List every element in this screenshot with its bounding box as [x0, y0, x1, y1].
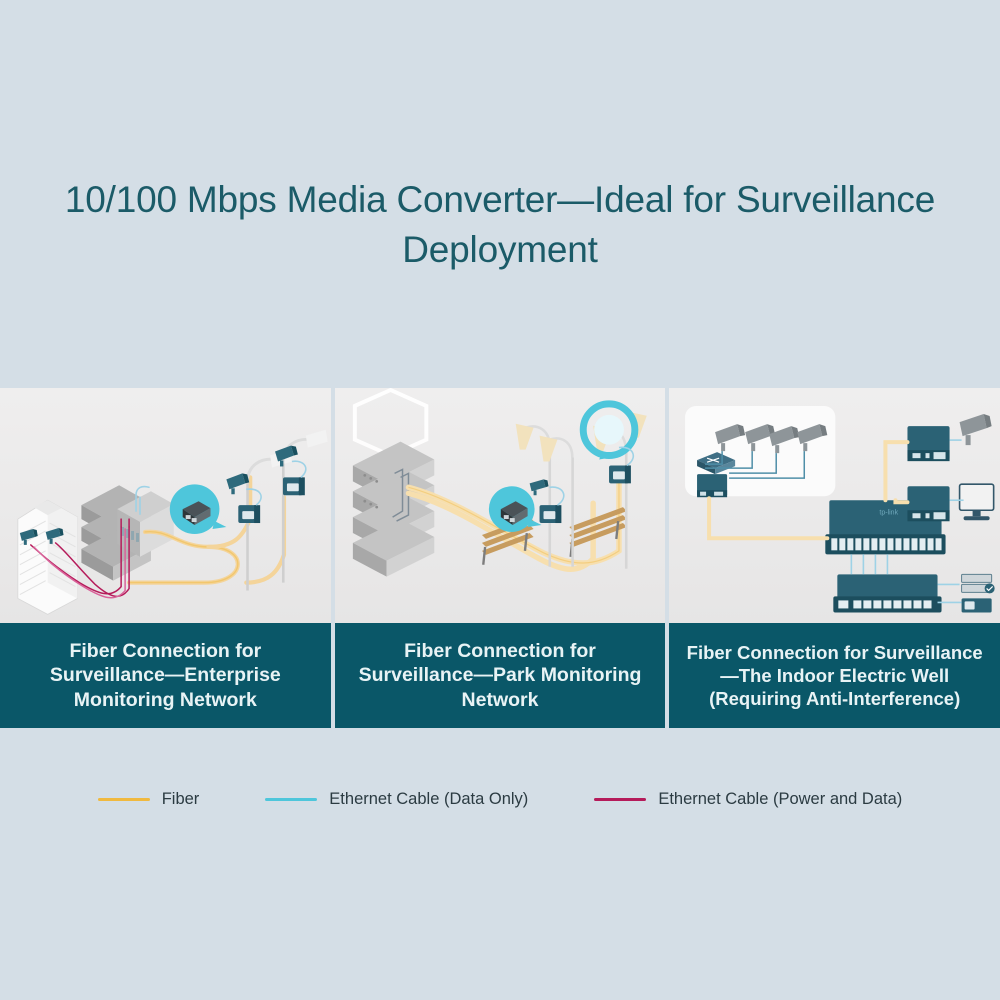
panel-indoor-electric-well[interactable]: tp-link [669, 388, 1000, 728]
park-diagram-svg [335, 388, 666, 621]
park-ip-camera-icon [529, 479, 548, 495]
indoor-diagram-svg: tp-link [669, 388, 1000, 623]
park-media-converter-1 [539, 505, 561, 523]
control-center-rack-icon [353, 442, 434, 577]
bottom-switch-icon [834, 574, 942, 612]
legend-swatch-fiber [98, 798, 150, 801]
legend-swatch-ethernet-data [265, 798, 317, 801]
ip-camera-icon-right-1 [226, 473, 249, 494]
legend: Fiber Ethernet Cable (Data Only) Etherne… [0, 790, 1000, 809]
second-media-converter-icon [908, 486, 950, 521]
field-media-converter-2 [283, 477, 305, 495]
panel-park-caption: Fiber Connection for Surveillance—Park M… [335, 623, 666, 728]
panel-park-diagram: Control Center in the Machine Room Optic… [335, 388, 666, 623]
panel-strip: Machine Room PoE Switch Switch NVR IP Ca… [0, 388, 1000, 728]
panel-enterprise-diagram: Machine Room PoE Switch Switch NVR IP Ca… [0, 388, 331, 623]
legend-label-ethernet-data: Ethernet Cable (Data Only) [329, 790, 528, 809]
server-device-icon-1 [962, 574, 995, 593]
server-device-icon-2 [962, 598, 992, 612]
top-media-converter-icon [908, 426, 950, 461]
enterprise-diagram-svg [0, 388, 331, 621]
legend-item-fiber: Fiber [98, 790, 200, 809]
field-media-converter-1 [238, 505, 260, 523]
legend-swatch-ethernet-power-data [594, 798, 646, 801]
panel-park[interactable]: Control Center in the Machine Room Optic… [335, 388, 666, 728]
legend-label-fiber: Fiber [162, 790, 200, 809]
panel-enterprise[interactable]: Machine Room PoE Switch Switch NVR IP Ca… [0, 388, 331, 728]
card-media-converter-icon [697, 474, 727, 497]
legend-item-ethernet-data: Ethernet Cable (Data Only) [265, 790, 528, 809]
street-lamp-2 [539, 436, 573, 567]
panel-indoor-caption: Fiber Connection for Surveillance—The In… [669, 623, 1000, 728]
legend-item-ethernet-power-data: Ethernet Cable (Power and Data) [594, 790, 902, 809]
office-building-icon [18, 500, 78, 614]
legend-label-ethernet-power-data: Ethernet Cable (Power and Data) [658, 790, 902, 809]
park-media-converter-2 [609, 465, 631, 483]
ip-camera-ring-callout [583, 404, 635, 460]
page-title: 10/100 Mbps Media Converter—Ideal for Su… [0, 175, 1000, 275]
panel-enterprise-caption: Fiber Connection for Surveillance—Enterp… [0, 623, 331, 728]
svg-text:tp-link: tp-link [880, 509, 899, 516]
panel-indoor-diagram: tp-link [669, 388, 1000, 623]
right-ip-camera-icon [960, 414, 992, 445]
computer-icon [960, 484, 994, 520]
poster-root: 10/100 Mbps Media Converter—Ideal for Su… [0, 0, 1000, 1000]
media-converter-callout [170, 484, 227, 534]
